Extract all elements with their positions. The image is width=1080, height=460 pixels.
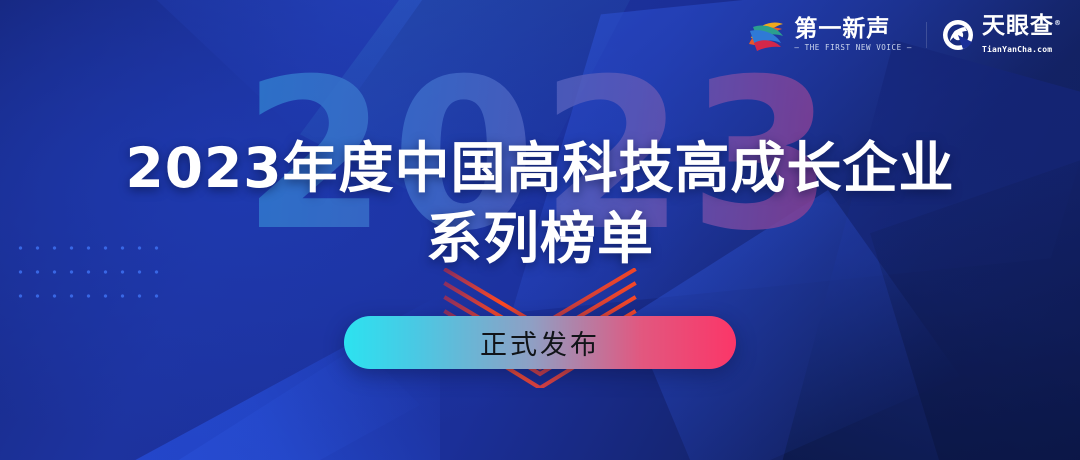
logo-tianyancha[interactable]: 天眼查® TianYanCha.com [941, 14, 1062, 55]
banner-title: 2023年度中国高科技高成长企业 系列榜单 [0, 132, 1080, 276]
logo-diyixinsheng[interactable]: 第一新声 — THE FIRST NEW VOICE — [747, 17, 912, 53]
eye-icon [941, 18, 975, 52]
promo-banner: 2023 2023年度中国高科技高成长企业 [0, 0, 1080, 460]
logo-tianyancha-en: TianYanCha.com [982, 44, 1062, 55]
logo-group: 第一新声 — THE FIRST NEW VOICE — 天眼查® TianYa… [747, 14, 1062, 55]
registered-mark-icon: ® [1054, 19, 1062, 27]
release-status-label: 正式发布 [480, 323, 600, 362]
logo-diyixinsheng-en: — THE FIRST NEW VOICE — [794, 42, 912, 53]
logo-tianyancha-cn-text: 天眼查 [982, 13, 1054, 39]
logo-tianyancha-cn: 天眼查® [982, 14, 1062, 44]
logo-diyixinsheng-cn: 第一新声 [794, 17, 912, 42]
title-line-2: 系列榜单 [0, 204, 1080, 276]
title-line-1: 2023年度中国高科技高成长企业 [0, 132, 1080, 204]
release-status-pill[interactable]: 正式发布 [344, 316, 736, 369]
swoosh-icon [747, 18, 787, 52]
logo-divider [926, 22, 927, 48]
